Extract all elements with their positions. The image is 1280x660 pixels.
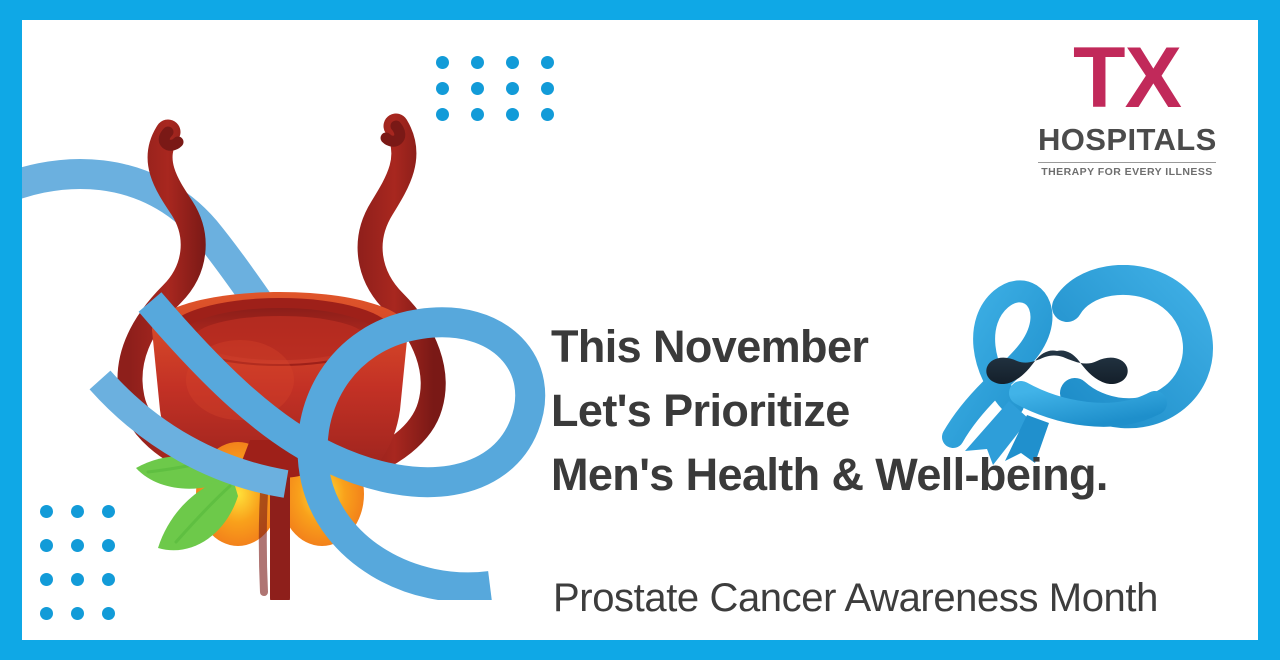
subtitle-text: Prostate Cancer Awareness Month xyxy=(553,576,1158,621)
logo-divider xyxy=(1038,162,1216,163)
banner-canvas: TX HOSPITALS THERAPY FOR EVERY ILLNESS T… xyxy=(22,20,1258,640)
headline-line-2: Let's Prioritize xyxy=(551,379,1251,443)
logo-name: HOSPITALS xyxy=(1038,124,1216,155)
decorative-dot xyxy=(71,607,84,620)
decorative-dot xyxy=(541,56,554,69)
tx-hospitals-logo: TX HOSPITALS THERAPY FOR EVERY ILLNESS xyxy=(1038,38,1216,177)
logo-tagline: THERAPY FOR EVERY ILLNESS xyxy=(1038,167,1216,178)
logo-mark-tx: TX xyxy=(1038,38,1216,120)
bladder-prostate-illustration xyxy=(22,80,560,600)
awareness-banner: TX HOSPITALS THERAPY FOR EVERY ILLNESS T… xyxy=(0,0,1280,660)
headline-line-1: This November xyxy=(551,315,1251,379)
headline-block: This November Let's Prioritize Men's Hea… xyxy=(551,315,1251,507)
decorative-dot xyxy=(436,56,449,69)
headline-line-3: Men's Health & Well-being. xyxy=(551,443,1251,507)
decorative-dot xyxy=(471,56,484,69)
decorative-dot xyxy=(102,607,115,620)
decorative-dot xyxy=(40,607,53,620)
decorative-dot xyxy=(506,56,519,69)
